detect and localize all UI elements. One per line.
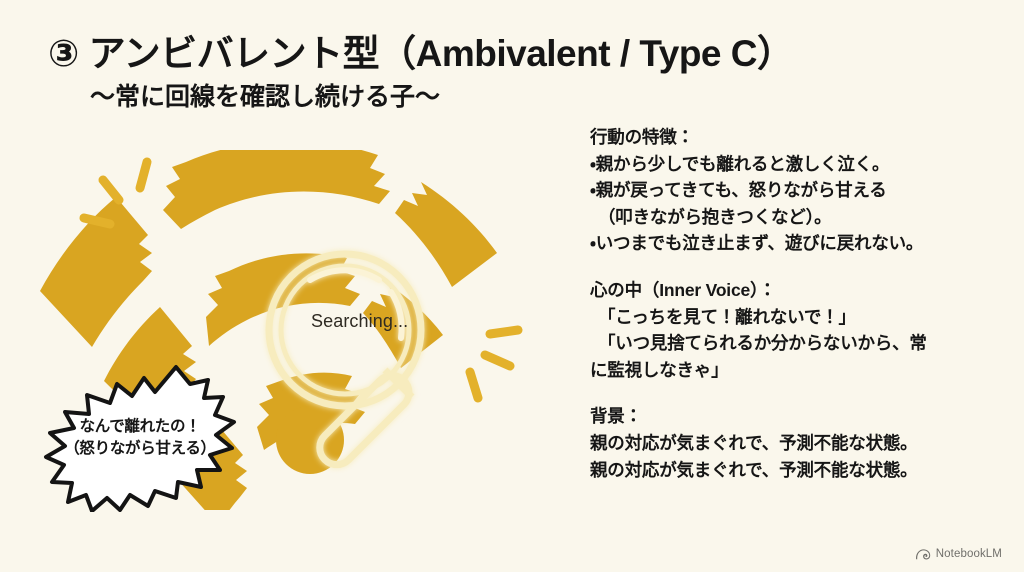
sparkle-dash-l1 bbox=[140, 162, 147, 188]
section-line: に監視しなきゃ」 bbox=[590, 357, 1008, 384]
page-subtitle: 〜常に回線を確認し続ける子〜 bbox=[90, 82, 868, 112]
notebooklm-logo-icon bbox=[916, 548, 931, 560]
section-line: 「こっちを見て！離れないで！」 bbox=[590, 304, 1008, 331]
sparkle-dash-r2 bbox=[485, 355, 510, 366]
page-title: ③ アンビバレント型（Ambivalent / Type C） bbox=[48, 32, 868, 76]
section-line: ・親が戻ってきても、怒りながら甘える bbox=[590, 177, 1008, 204]
section-behavior: 行動の特徴： ・親から少しでも離れると激しく泣く。 ・親が戻ってきても、怒りなが… bbox=[590, 124, 1008, 257]
section-line: 親の対応が気まぐれで、予測不能な状態。 bbox=[590, 457, 1008, 484]
speech-bubble-line-1: なんで離れたの！ bbox=[24, 416, 256, 438]
section-line: ・いつまでも泣き止まず、遊びに戻れない。 bbox=[590, 230, 1008, 257]
section-line: 「いつ見捨てられるか分からないから、常 bbox=[590, 330, 1008, 357]
section-line: 親の対応が気まぐれで、予測不能な状態。 bbox=[590, 430, 1008, 457]
section-heading: 心の中（Inner Voice）： bbox=[590, 277, 1008, 304]
sparkle-dash-r3 bbox=[470, 372, 478, 398]
speech-bubble: なんで離れたの！ （怒りながら甘える） bbox=[24, 362, 256, 512]
searching-label: Searching... bbox=[311, 311, 408, 332]
section-background: 背景： 親の対応が気まぐれで、予測不能な状態。 親の対応が気まぐれで、予測不能な… bbox=[590, 403, 1008, 483]
speech-bubble-line-2: （怒りながら甘える） bbox=[24, 438, 256, 460]
section-line: ・親から少しでも離れると激しく泣く。 bbox=[590, 151, 1008, 178]
notebooklm-brand-name: NotebookLM bbox=[936, 548, 1002, 560]
title-block: ③ アンビバレント型（Ambivalent / Type C） 〜常に回線を確認… bbox=[48, 32, 868, 112]
slide-canvas: ③ アンビバレント型（Ambivalent / Type C） 〜常に回線を確認… bbox=[0, 0, 1024, 572]
wifi-arc-outer-right bbox=[395, 182, 497, 287]
section-heading: 行動の特徴： bbox=[590, 124, 1008, 151]
wifi-arc-outer-main bbox=[163, 150, 390, 229]
sparkle-dash-l3 bbox=[84, 218, 110, 224]
speech-bubble-text: なんで離れたの！ （怒りながら甘える） bbox=[24, 416, 256, 461]
description-column: 行動の特徴： ・親から少しでも離れると激しく泣く。 ・親が戻ってきても、怒りなが… bbox=[590, 124, 1008, 483]
section-inner-voice: 心の中（Inner Voice）： 「こっちを見て！離れないで！」 「いつ見捨て… bbox=[590, 277, 1008, 383]
sparkle-dash-r1 bbox=[490, 330, 518, 334]
notebooklm-brand: NotebookLM bbox=[916, 548, 1002, 560]
section-heading: 背景： bbox=[590, 403, 1008, 430]
section-line: （叩きながら抱きつくなど）。 bbox=[590, 204, 1008, 231]
sparkle-group-right bbox=[470, 330, 518, 398]
sparkle-dash-l2 bbox=[103, 180, 119, 200]
